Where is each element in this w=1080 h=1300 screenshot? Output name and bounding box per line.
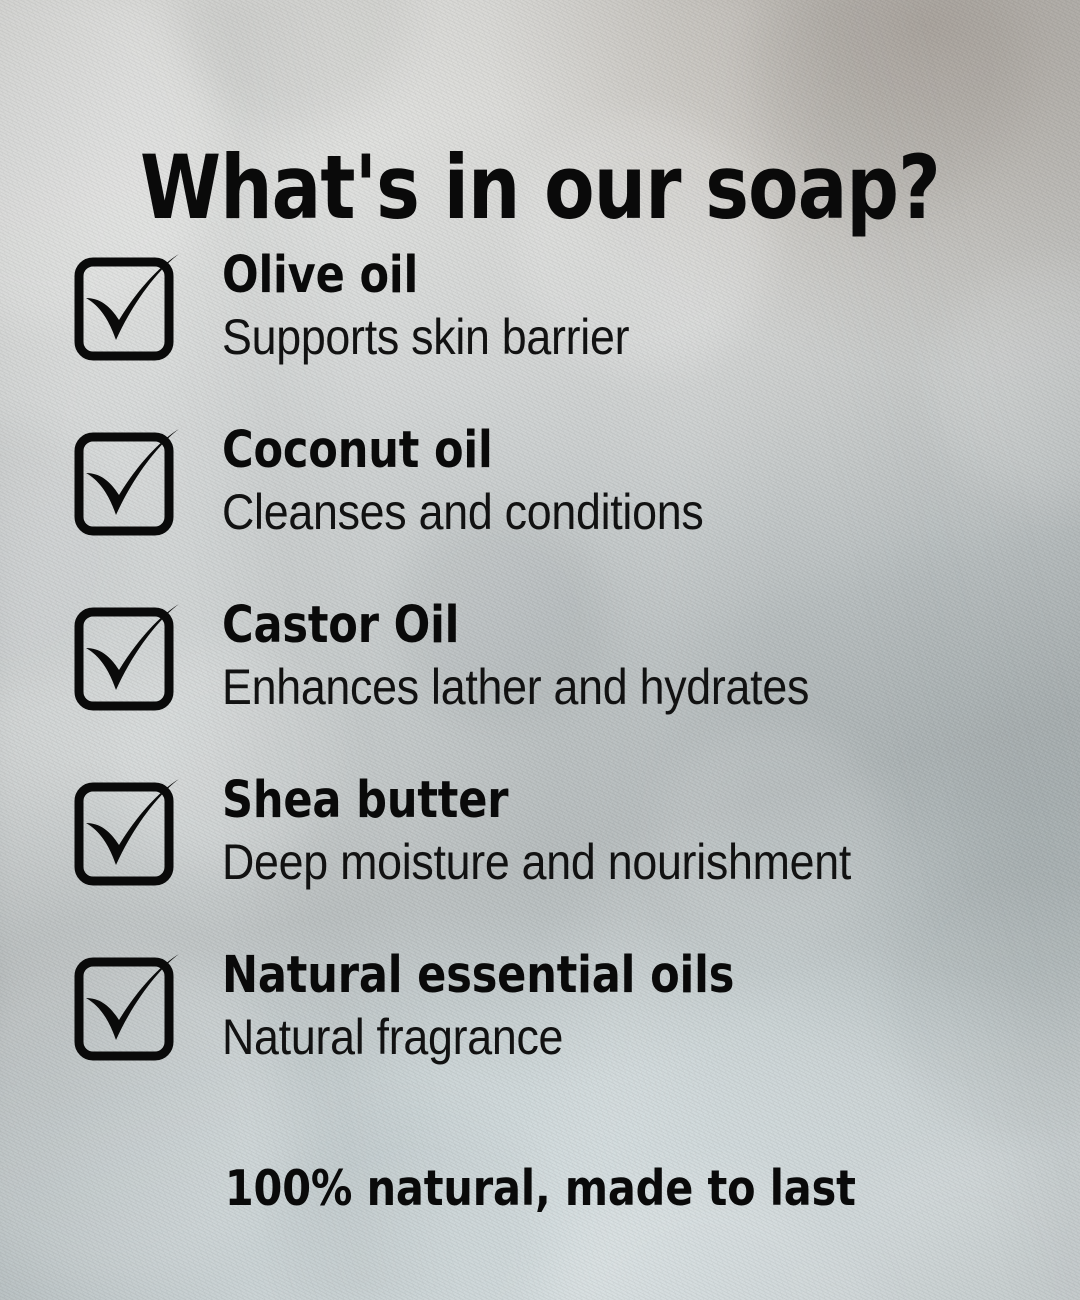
soap-ingredients-poster: What's in our soap? Olive oil Supports s… [0,0,1080,1300]
list-item-text: Shea butter Deep moisture and nourishmen… [222,771,1072,891]
checkbox-checked-icon [62,777,190,895]
checkbox-checked-icon [62,427,190,545]
ingredient-description: Enhances lather and hydrates [222,658,1072,716]
list-item: Castor Oil Enhances lather and hydrates [0,596,1080,771]
list-item: Coconut oil Cleanses and conditions [0,421,1080,596]
list-item-text: Natural essential oils Natural fragrance [222,946,1072,1066]
checkbox-checked-icon [62,602,190,720]
checkbox-checked-icon [62,952,190,1070]
ingredient-description: Natural fragrance [222,1008,1072,1066]
list-item: Natural essential oils Natural fragrance [0,946,1080,1121]
ingredient-name: Castor Oil [222,596,1072,656]
footer-tagline: 100% natural, made to last [0,1160,1080,1218]
page-title-text: What's in our soap? [140,143,940,233]
ingredient-name: Coconut oil [222,421,1072,481]
list-item-text: Coconut oil Cleanses and conditions [222,421,1072,541]
list-item-text: Olive oil Supports skin barrier [222,246,1072,366]
ingredient-list: Olive oil Supports skin barrier Coconut … [0,246,1080,1121]
poster-content: What's in our soap? Olive oil Supports s… [0,0,1080,1300]
list-item: Shea butter Deep moisture and nourishmen… [0,771,1080,946]
footer-tagline-text: 100% natural, made to last [225,1160,856,1218]
list-item: Olive oil Supports skin barrier [0,246,1080,421]
ingredient-name: Olive oil [222,246,1072,306]
page-title: What's in our soap? [0,143,1080,233]
ingredient-name: Shea butter [222,771,1072,831]
ingredient-name: Natural essential oils [222,946,1072,1006]
list-item-text: Castor Oil Enhances lather and hydrates [222,596,1072,716]
ingredient-description: Deep moisture and nourishment [222,833,1072,891]
ingredient-description: Cleanses and conditions [222,483,1072,541]
checkbox-checked-icon [62,252,190,370]
ingredient-description: Supports skin barrier [222,308,1072,366]
